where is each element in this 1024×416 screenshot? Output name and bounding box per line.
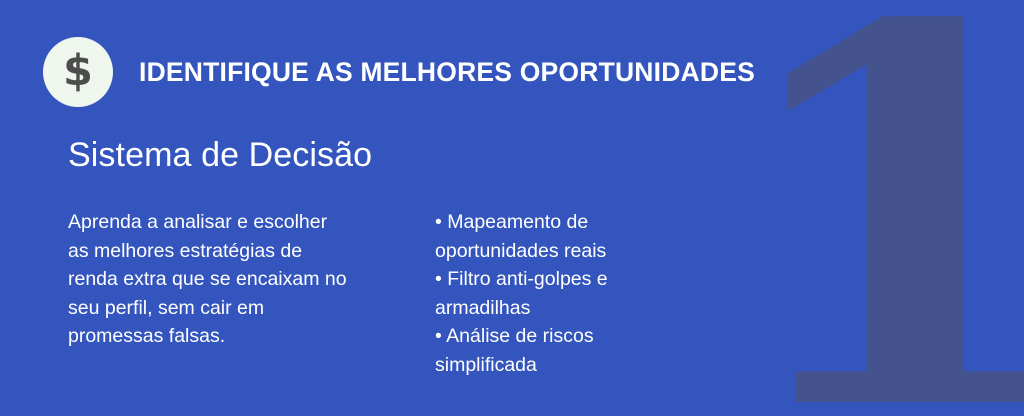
step-number-one-text: 1 xyxy=(724,0,1024,416)
feature-bullet-list: • Mapeamento de oportunidades reais • Fi… xyxy=(435,208,695,379)
dollar-sign-icon: $ xyxy=(43,37,113,107)
step-number-one-decoration: 1 xyxy=(800,0,1010,416)
body-content: Aprenda a analisar e escolher as melhore… xyxy=(68,208,708,379)
list-item: • Mapeamento de oportunidades reais xyxy=(435,208,695,265)
slide-canvas: 1 $ IDENTIFIQUE AS MELHORES OPORTUNIDADE… xyxy=(0,0,1024,416)
subtitle: Sistema de Decisão xyxy=(68,136,372,175)
list-item: • Análise de riscos simplificada xyxy=(435,322,695,379)
header: $ IDENTIFIQUE AS MELHORES OPORTUNIDADES xyxy=(43,37,755,107)
page-title: IDENTIFIQUE AS MELHORES OPORTUNIDADES xyxy=(139,57,755,88)
dollar-sign-glyph: $ xyxy=(63,50,93,93)
description-paragraph: Aprenda a analisar e escolher as melhore… xyxy=(68,208,350,351)
list-item: • Filtro anti-golpes e armadilhas xyxy=(435,265,695,322)
